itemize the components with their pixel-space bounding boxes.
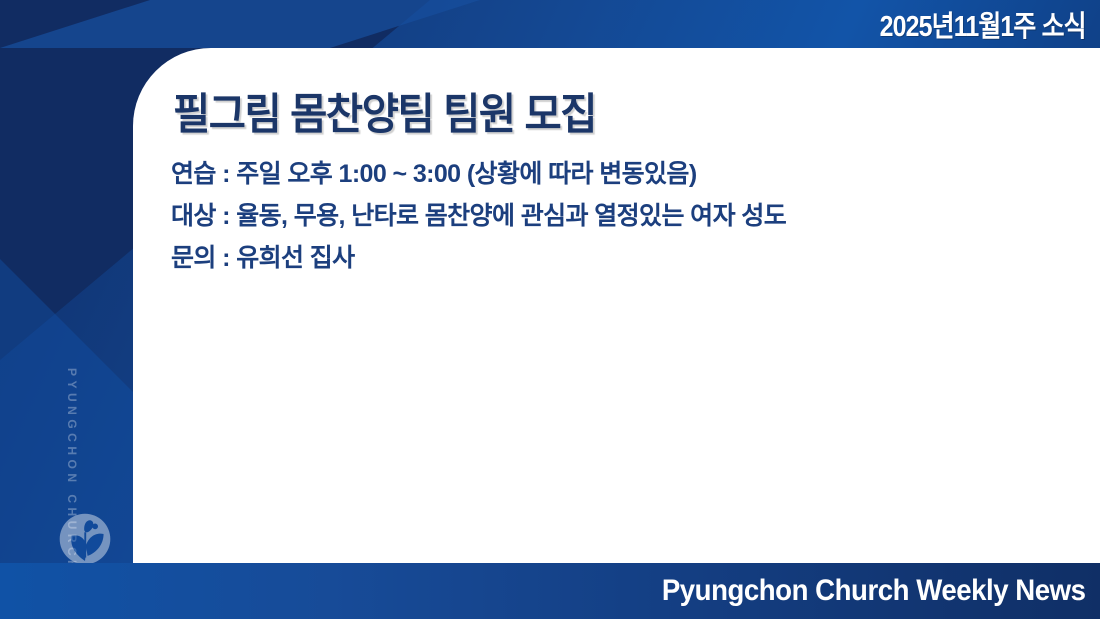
announcement-line: 문의 : 유희선 집사	[171, 237, 1070, 279]
announcement-line: 대상 : 율동, 무용, 난타로 몸찬양에 관심과 열정있는 여자 성도	[171, 195, 1070, 237]
announcement-line: 연습 : 주일 오후 1:00 ~ 3:00 (상황에 따라 변동있음)	[171, 153, 1070, 195]
weekly-news-slide: 2025년11월1주 소식 PYUNGCHON CHURCH 필그림 몸찬양팀 …	[0, 0, 1100, 619]
church-flower-logo-icon	[58, 512, 112, 566]
content-card: 필그림 몸찬양팀 팀원 모집 연습 : 주일 오후 1:00 ~ 3:00 (상…	[133, 48, 1100, 563]
announcement-body: 연습 : 주일 오후 1:00 ~ 3:00 (상황에 따라 변동있음) 대상 …	[171, 153, 1070, 279]
footer-brand-text: Pyungchon Church Weekly News	[662, 574, 1086, 608]
bottom-band: Pyungchon Church Weekly News	[0, 563, 1100, 619]
issue-label: 2025년11월1주 소식	[880, 3, 1086, 45]
page-title: 필그림 몸찬양팀 팀원 모집	[173, 80, 596, 142]
top-band: 2025년11월1주 소식	[0, 0, 1100, 48]
